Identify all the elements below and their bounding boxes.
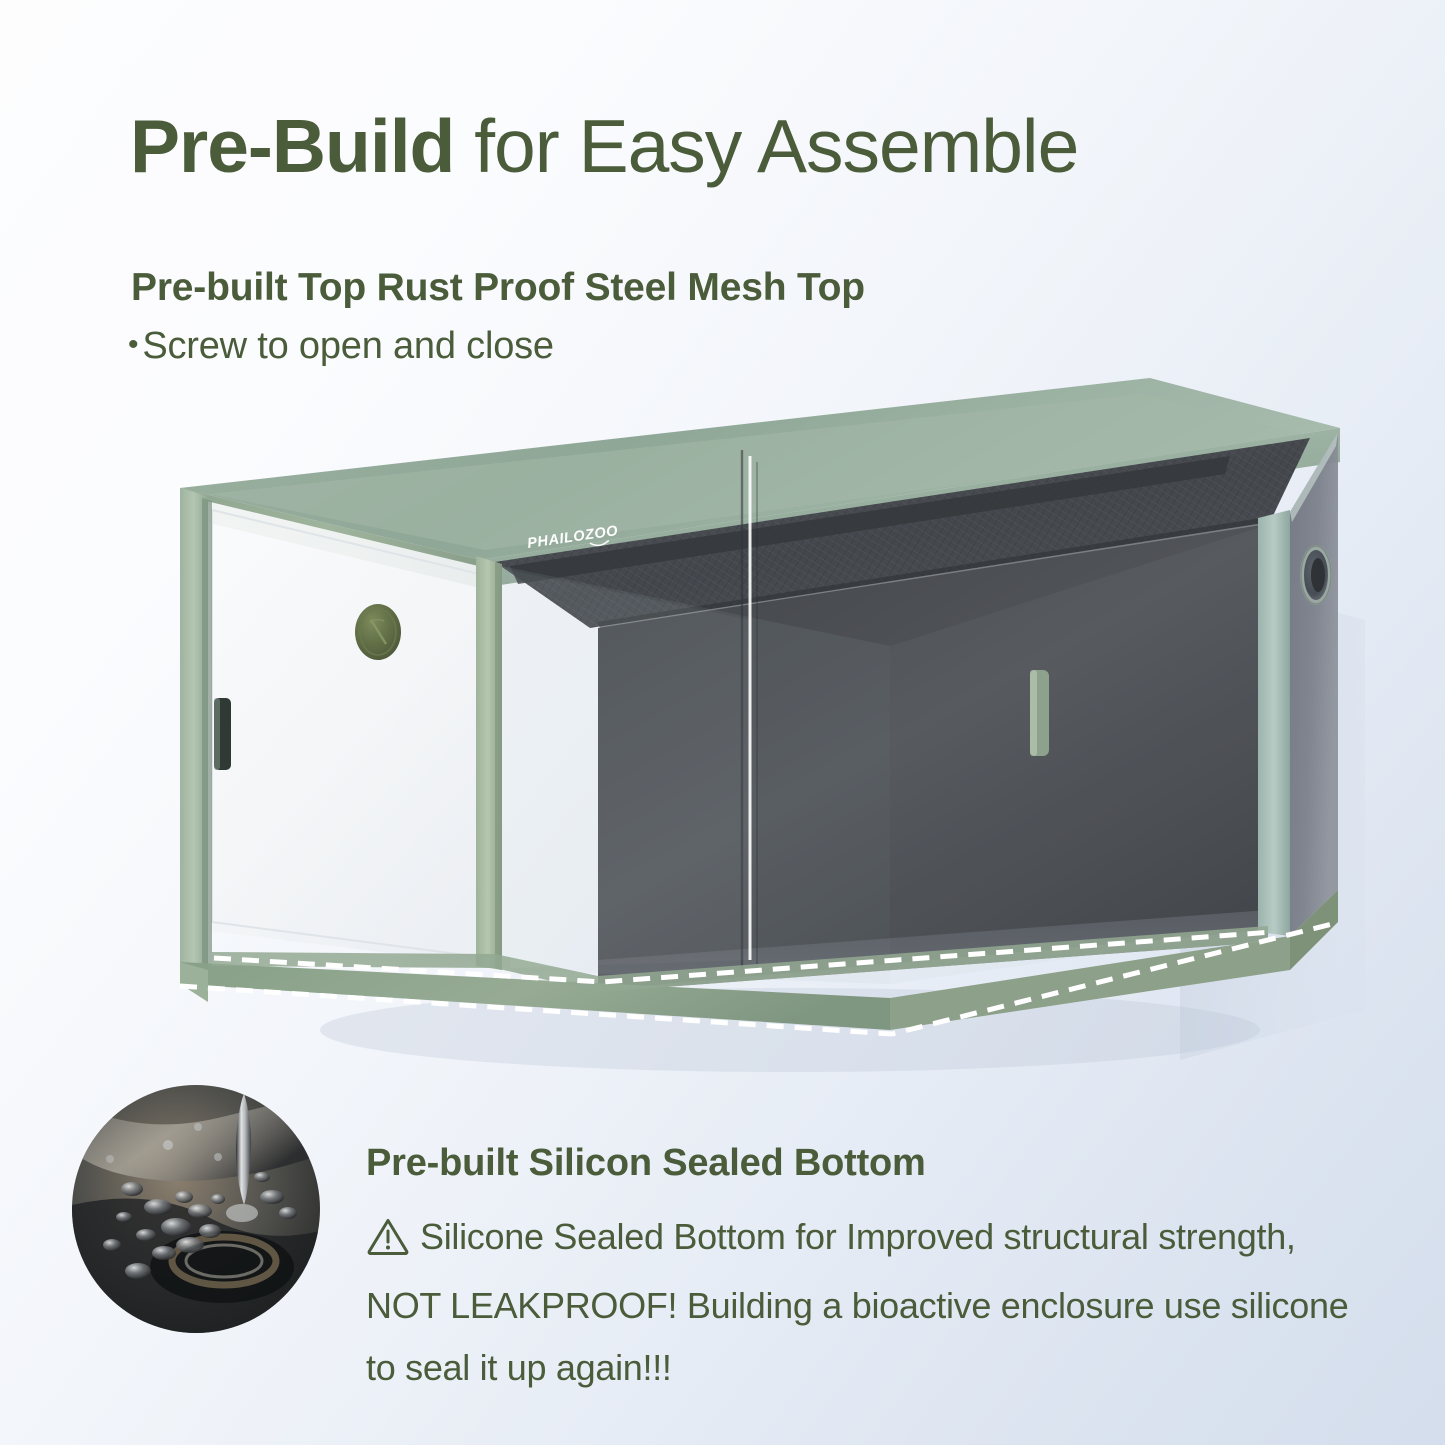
closed-cable-port-cap <box>355 604 401 660</box>
bottom-feature-body: Silicone Sealed Bottom for Improved stru… <box>366 1206 1366 1399</box>
glass-sheen <box>510 570 750 968</box>
right-corner-post <box>1258 510 1290 936</box>
bottom-feature-body-text: Silicone Sealed Bottom for Improved stru… <box>366 1216 1348 1388</box>
silicone-droplets-photo <box>72 1085 320 1333</box>
warning-triangle-icon <box>366 1213 410 1275</box>
page-title-strong: Pre-Build <box>130 104 454 188</box>
top-feature-bullet-text: Screw to open and close <box>142 325 554 367</box>
left-handle-highlight <box>214 698 220 770</box>
center-divider-post-edge <box>495 562 502 970</box>
bottom-feature-title: Pre-built Silicon Sealed Bottom <box>366 1142 926 1185</box>
page-title-light: for Easy Assemble <box>454 104 1078 188</box>
top-feature-title: Pre-built Top Rust Proof Steel Mesh Top <box>131 266 865 310</box>
right-handle-highlight <box>1030 670 1037 756</box>
product-enclosure-render: PHAILOZOO <box>150 370 1370 1070</box>
left-side-glass-panel <box>202 500 495 966</box>
infographic-canvas: Pre-Build for Easy Assemble Pre-built To… <box>0 0 1445 1445</box>
top-feature-bullet: •Screw to open and close <box>128 325 554 368</box>
open-cable-port-grommet <box>1300 545 1332 605</box>
left-corner-post-dark <box>202 498 212 966</box>
bullet-dot-icon: • <box>128 328 138 361</box>
page-title: Pre-Build for Easy Assemble <box>130 104 1390 188</box>
